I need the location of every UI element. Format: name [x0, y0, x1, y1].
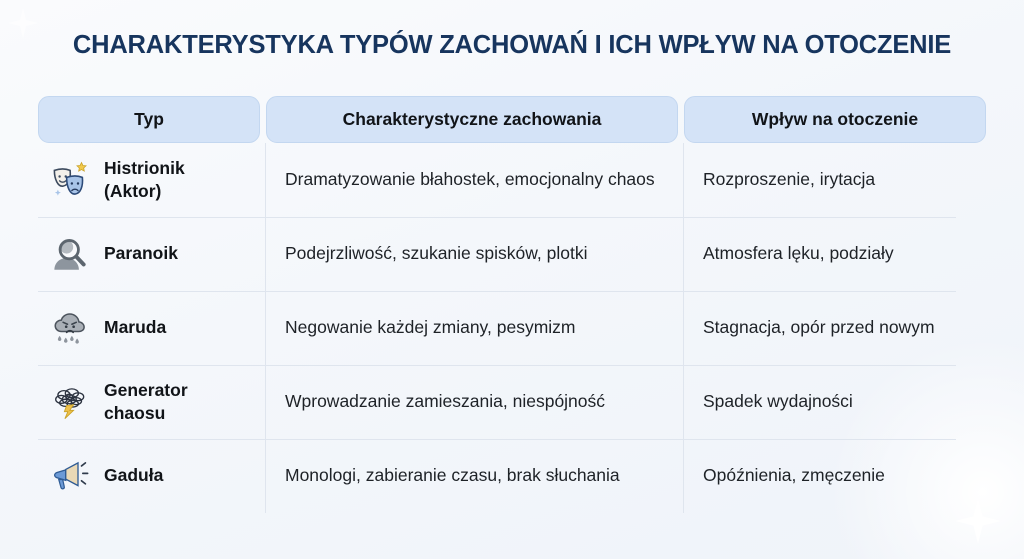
cloud-with-lightning-icon	[50, 381, 92, 423]
table-header-row: Typ Charakterystyczne zachowania Wpływ n…	[38, 96, 986, 143]
megaphone-icon	[50, 455, 92, 497]
table-body: Histrionik (Aktor) Dramatyzowanie błahos…	[38, 143, 986, 513]
table-row: Maruda Negowanie każdej zmiany, pesymizm…	[38, 291, 986, 365]
row-behaviors-cell: Wprowadzanie zamieszania, niespójność	[266, 365, 678, 439]
row-type-label: Maruda	[104, 316, 166, 339]
rain-cloud-angry-icon	[50, 307, 92, 349]
table-row: Gaduła Monologi, zabieranie czasu, brak …	[38, 439, 986, 513]
row-type-label-line1: Maruda	[104, 316, 166, 339]
row-type-label-line1: Paranoik	[104, 242, 178, 265]
column-header-behaviors: Charakterystyczne zachowania	[266, 96, 678, 143]
row-type-cell: Maruda	[38, 291, 260, 365]
row-impact-cell: Rozproszenie, irytacja	[684, 143, 986, 217]
row-behaviors-cell: Dramatyzowanie błahostek, emocjonalny ch…	[266, 143, 678, 217]
table-row: Paranoik Podejrzliwość, szukanie spisków…	[38, 217, 986, 291]
row-type-cell: Paranoik	[38, 217, 260, 291]
person-with-magnifying-glass-icon	[50, 233, 92, 275]
infographic-canvas: CHARAKTERYSTYKA TYPÓW ZACHOWAŃ I ICH WPŁ…	[0, 0, 1024, 559]
row-impact-cell: Opóźnienia, zmęczenie	[684, 439, 986, 513]
table-row: Generator chaosu Wprowadzanie zamieszani…	[38, 365, 986, 439]
theater-masks-icon	[50, 159, 92, 201]
behavior-types-table: Typ Charakterystyczne zachowania Wpływ n…	[38, 96, 986, 513]
row-type-label-line1: Generator	[104, 379, 188, 402]
row-impact-cell: Spadek wydajności	[684, 365, 986, 439]
row-type-label: Histrionik (Aktor)	[104, 157, 185, 203]
row-type-cell: Generator chaosu	[38, 365, 260, 439]
row-behaviors-cell: Negowanie każdej zmiany, pesymizm	[266, 291, 678, 365]
row-type-label: Paranoik	[104, 242, 178, 265]
column-header-type: Typ	[38, 96, 260, 143]
row-type-label: Gaduła	[104, 464, 163, 487]
row-type-label: Generator chaosu	[104, 379, 188, 425]
row-type-cell: Histrionik (Aktor)	[38, 143, 260, 217]
column-header-behaviors-label: Charakterystyczne zachowania	[343, 109, 602, 130]
row-type-label-line2: chaosu	[104, 402, 188, 425]
table-row: Histrionik (Aktor) Dramatyzowanie błahos…	[38, 143, 986, 217]
page-title: CHARAKTERYSTYKA TYPÓW ZACHOWAŃ I ICH WPŁ…	[0, 31, 1024, 60]
row-type-label-line1: Gaduła	[104, 464, 163, 487]
row-type-cell: Gaduła	[38, 439, 260, 513]
row-type-label-line2: (Aktor)	[104, 180, 185, 203]
row-type-label-line1: Histrionik	[104, 157, 185, 180]
column-header-impact: Wpływ na otoczenie	[684, 96, 986, 143]
row-behaviors-cell: Podejrzliwość, szukanie spisków, plotki	[266, 217, 678, 291]
column-header-type-label: Typ	[134, 109, 164, 130]
row-impact-cell: Atmosfera lęku, podziały	[684, 217, 986, 291]
column-header-impact-label: Wpływ na otoczenie	[752, 109, 918, 130]
row-behaviors-cell: Monologi, zabieranie czasu, brak słuchan…	[266, 439, 678, 513]
row-impact-cell: Stagnacja, opór przed nowym	[684, 291, 986, 365]
